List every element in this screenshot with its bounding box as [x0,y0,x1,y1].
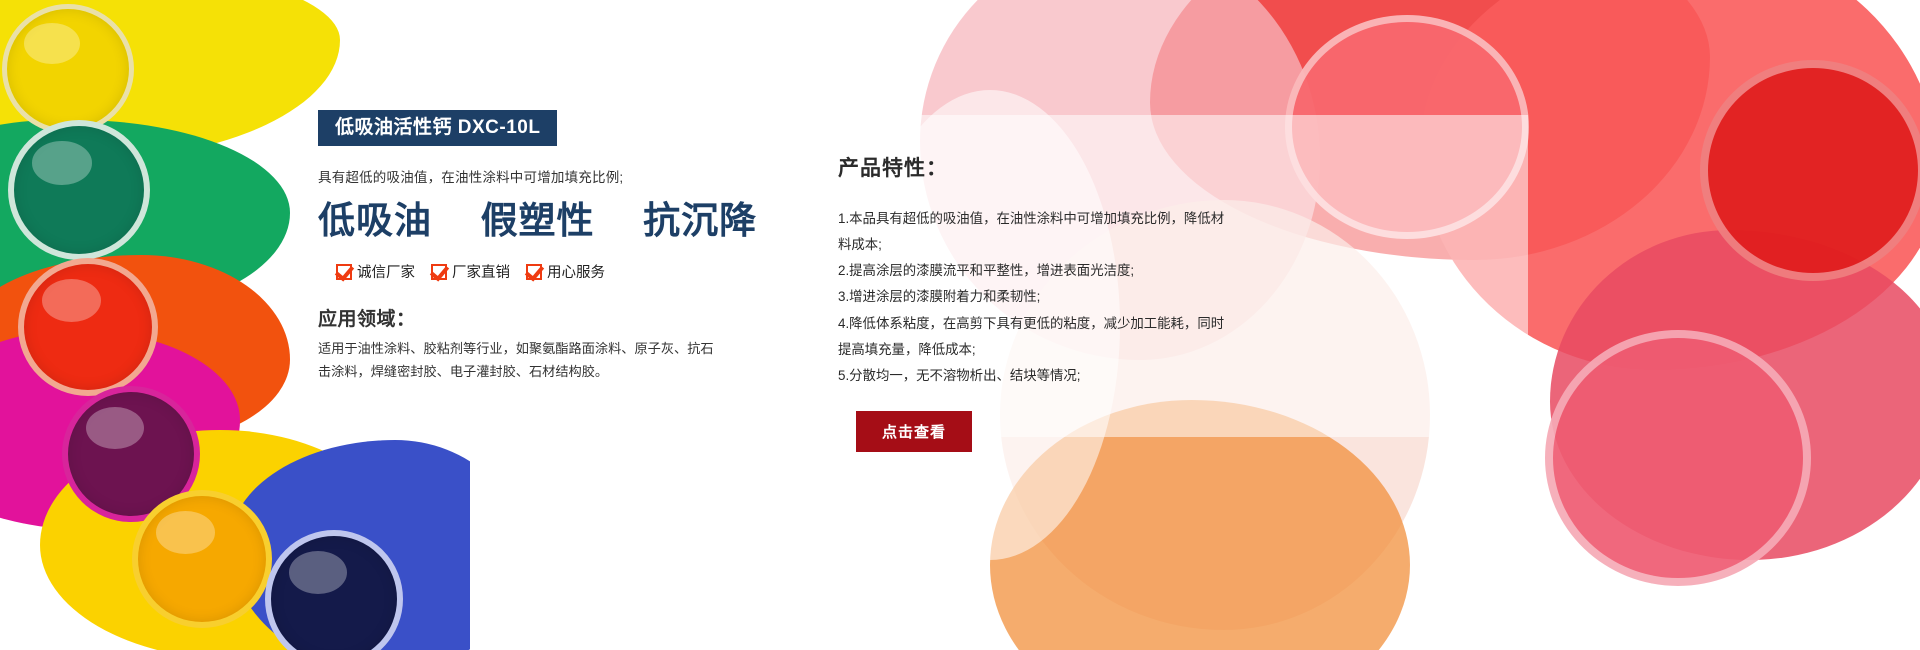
application-heading: 应用领域： [318,304,738,331]
headline-part-3: 抗沉降 [643,200,757,241]
checkbox-checked-icon [431,264,447,280]
headline-part-2: 假塑性 [481,200,595,241]
trust-badge-label-2: 厂家直销 [452,261,510,282]
features-list: 1.本品具有超低的吸油值，在油性涂料中可增加填充比例，降低材料成本; 2.提高涂… [838,206,1228,389]
amber-paint-can [132,490,272,628]
product-subline: 具有超低的吸油值，在油性涂料中可增加填充比例; [318,166,738,186]
trust-badge-2: 厂家直销 [431,261,510,282]
features-panel-title: 产品特性： [838,152,1505,182]
feature-item-2: 2.提高涂层的漆膜流平和平整性，增进表面光洁度; [838,258,1228,284]
feature-item-5: 5.分散均一，无不溶物析出、结块等情况; [838,363,1228,389]
green-paint-can [8,120,150,260]
red-can-far-right [1545,330,1811,586]
product-title-badge: 低吸油活性钙 DXC-10L [318,110,557,146]
red-paint-can [18,258,158,396]
left-content-column: 低吸油活性钙 DXC-10L 具有超低的吸油值，在油性涂料中可增加填充比例; 低… [318,110,738,384]
feature-item-1: 1.本品具有超低的吸油值，在油性涂料中可增加填充比例，降低材料成本; [838,206,1228,258]
yellow-paint-can [2,4,134,134]
feature-item-3: 3.增进涂层的漆膜附着力和柔韧性; [838,284,1228,310]
trust-badge-row: 诚信厂家 厂家直销 用心服务 [318,261,738,282]
trust-badge-1: 诚信厂家 [336,261,415,282]
checkbox-checked-icon [336,264,352,280]
headline-keywords: 低吸油 假塑性 抗沉降 [318,200,738,241]
feature-item-4: 4.降低体系粘度，在高剪下具有更低的粘度，减少加工能耗，同时提高填充量，降低成本… [838,311,1228,363]
product-banner: 低吸油活性钙 DXC-10L 具有超低的吸油值，在油性涂料中可增加填充比例; 低… [0,0,1920,650]
product-features-panel: 产品特性： 1.本品具有超低的吸油值，在油性涂料中可增加填充比例，降低材料成本;… [805,115,1505,437]
trust-badge-label-3: 用心服务 [547,261,605,282]
deep-red-can [1700,60,1920,281]
features-panel-content: 产品特性： 1.本品具有超低的吸油值，在油性涂料中可增加填充比例，降低材料成本;… [805,115,1505,452]
trust-badge-label-1: 诚信厂家 [357,261,415,282]
checkbox-checked-icon [526,264,542,280]
trust-badge-3: 用心服务 [526,261,605,282]
view-details-button[interactable]: 点击查看 [856,411,972,452]
headline-part-1: 低吸油 [318,200,432,241]
application-body: 适用于油性涂料、胶粘剂等行业，如聚氨酯路面涂料、原子灰、抗石击涂料，焊缝密封胶、… [318,338,718,383]
